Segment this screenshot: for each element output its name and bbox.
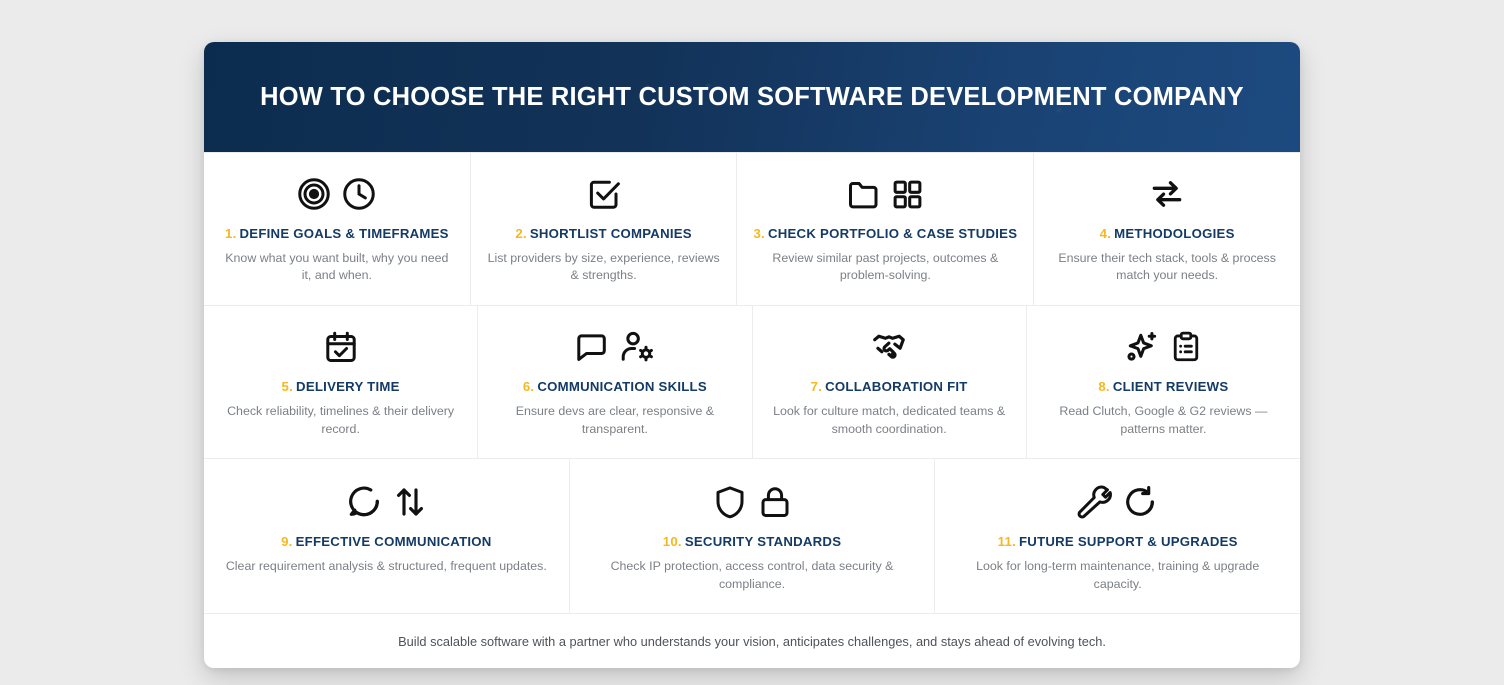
calendar-check-icon [323,329,359,365]
step-9-icons [345,479,428,525]
chat-bubble-icon [345,483,383,521]
step-card-11[interactable]: 11.FUTURE SUPPORT & UPGRADES Look for lo… [934,459,1300,613]
step-2-number: 2. [515,226,527,241]
step-4-title: METHODOLOGIES [1114,226,1234,241]
step-9-title: EFFECTIVE COMMUNICATION [296,534,492,549]
up-down-arrows-icon [392,484,428,520]
step-card-10[interactable]: 10.SECURITY STANDARDS Check IP protectio… [569,459,935,613]
step-7-number: 7. [811,379,823,394]
step-9-heading: 9.EFFECTIVE COMMUNICATION [281,534,491,550]
step-7-icons [870,324,908,370]
step-4-heading: 4.METHODOLOGIES [1100,226,1235,242]
step-11-icons [1077,479,1158,525]
step-6-icons [574,324,655,370]
step-8-icons [1124,324,1203,370]
step-card-7[interactable]: 7.COLLABORATION FIT Look for culture mat… [752,306,1026,458]
step-5-number: 5. [282,379,294,394]
step-7-title: COLLABORATION FIT [825,379,967,394]
sparkle-icon [1124,329,1160,365]
target-icon [296,176,332,212]
step-8-description: Read Clutch, Google & G2 reviews — patte… [1043,403,1284,438]
folder-icon [846,176,882,212]
step-3-description: Review similar past projects, outcomes &… [760,250,1010,285]
step-card-5[interactable]: 5.DELIVERY TIME Check reliability, timel… [204,306,477,458]
step-10-description: Check IP protection, access control, dat… [587,558,917,593]
step-card-9[interactable]: 9.EFFECTIVE COMMUNICATION Clear requirem… [204,459,569,613]
step-8-number: 8. [1098,379,1110,394]
step-5-icons [323,324,359,370]
step-2-title: SHORTLIST COMPANIES [530,226,692,241]
step-card-2[interactable]: 2.SHORTLIST COMPANIES List providers by … [470,153,737,305]
step-3-title: CHECK PORTFOLIO & CASE STUDIES [768,226,1017,241]
step-2-icons [586,171,622,217]
clipboard-list-icon [1169,330,1203,364]
step-card-8[interactable]: 8.CLIENT REVIEWS Read Clutch, Google & G… [1026,306,1300,458]
step-8-heading: 8.CLIENT REVIEWS [1098,379,1228,395]
step-7-heading: 7.COLLABORATION FIT [811,379,968,395]
steps-row-3: 9.EFFECTIVE COMMUNICATION Clear requirem… [204,458,1300,613]
step-11-description: Look for long-term maintenance, training… [953,558,1283,593]
footer-strip: Build scalable software with a partner w… [204,613,1300,668]
step-4-number: 4. [1100,226,1112,241]
step-10-icons [712,479,793,525]
step-card-1[interactable]: 1.DEFINE GOALS & TIMEFRAMES Know what yo… [204,153,470,305]
step-11-title: FUTURE SUPPORT & UPGRADES [1019,534,1238,549]
step-6-heading: 6.COMMUNICATION SKILLS [523,379,707,395]
step-10-title: SECURITY STANDARDS [685,534,841,549]
step-11-number: 11. [998,534,1016,549]
footer-tagline: Build scalable software with a partner w… [398,634,1106,649]
step-6-description: Ensure devs are clear, responsive & tran… [494,403,735,438]
step-3-heading: 3.CHECK PORTFOLIO & CASE STUDIES [753,226,1017,242]
step-10-heading: 10.SECURITY STANDARDS [663,534,842,550]
step-3-icons [846,171,924,217]
step-6-number: 6. [523,379,535,394]
speech-bubble-icon [574,329,610,365]
step-5-description: Check reliability, timelines & their del… [220,403,461,438]
refresh-icon [1122,484,1158,520]
clock-icon [341,176,377,212]
step-4-description: Ensure their tech stack, tools & process… [1050,250,1284,285]
step-1-heading: 1.DEFINE GOALS & TIMEFRAMES [225,226,449,242]
step-8-title: CLIENT REVIEWS [1113,379,1229,394]
user-gear-icon [619,329,655,365]
step-card-6[interactable]: 6.COMMUNICATION SKILLS Ensure devs are c… [477,306,751,458]
step-1-number: 1. [225,226,237,241]
step-10-number: 10. [663,534,682,549]
step-2-heading: 2.SHORTLIST COMPANIES [515,226,692,242]
step-6-title: COMMUNICATION SKILLS [537,379,707,394]
step-1-title: DEFINE GOALS & TIMEFRAMES [240,226,449,241]
handshake-icon [870,328,908,366]
step-1-description: Know what you want built, why you need i… [220,250,454,285]
step-5-heading: 5.DELIVERY TIME [282,379,400,395]
step-card-3[interactable]: 3.CHECK PORTFOLIO & CASE STUDIES Review … [736,153,1033,305]
step-2-description: List providers by size, experience, revi… [487,250,721,285]
step-3-number: 3. [753,226,765,241]
grid-squares-icon [891,178,924,211]
page-title: HOW TO CHOOSE THE RIGHT CUSTOM SOFTWARE … [260,83,1244,112]
step-4-icons [1148,171,1186,217]
steps-row-2: 5.DELIVERY TIME Check reliability, timel… [204,305,1300,458]
step-7-description: Look for culture match, dedicated teams … [769,403,1010,438]
step-1-icons [296,171,377,217]
step-9-number: 9. [281,534,293,549]
lock-icon [757,484,793,520]
infographic-card: HOW TO CHOOSE THE RIGHT CUSTOM SOFTWARE … [204,42,1300,668]
step-9-description: Clear requirement analysis & structured,… [226,558,547,576]
steps-row-1: 1.DEFINE GOALS & TIMEFRAMES Know what yo… [204,152,1300,305]
shield-icon [712,484,748,520]
step-11-heading: 11.FUTURE SUPPORT & UPGRADES [998,534,1238,550]
wrench-icon [1077,484,1113,520]
exchange-arrows-icon [1148,175,1186,213]
step-card-4[interactable]: 4.METHODOLOGIES Ensure their tech stack,… [1033,153,1300,305]
step-5-title: DELIVERY TIME [296,379,400,394]
checkbox-checked-icon [586,176,622,212]
header-banner: HOW TO CHOOSE THE RIGHT CUSTOM SOFTWARE … [204,42,1300,152]
